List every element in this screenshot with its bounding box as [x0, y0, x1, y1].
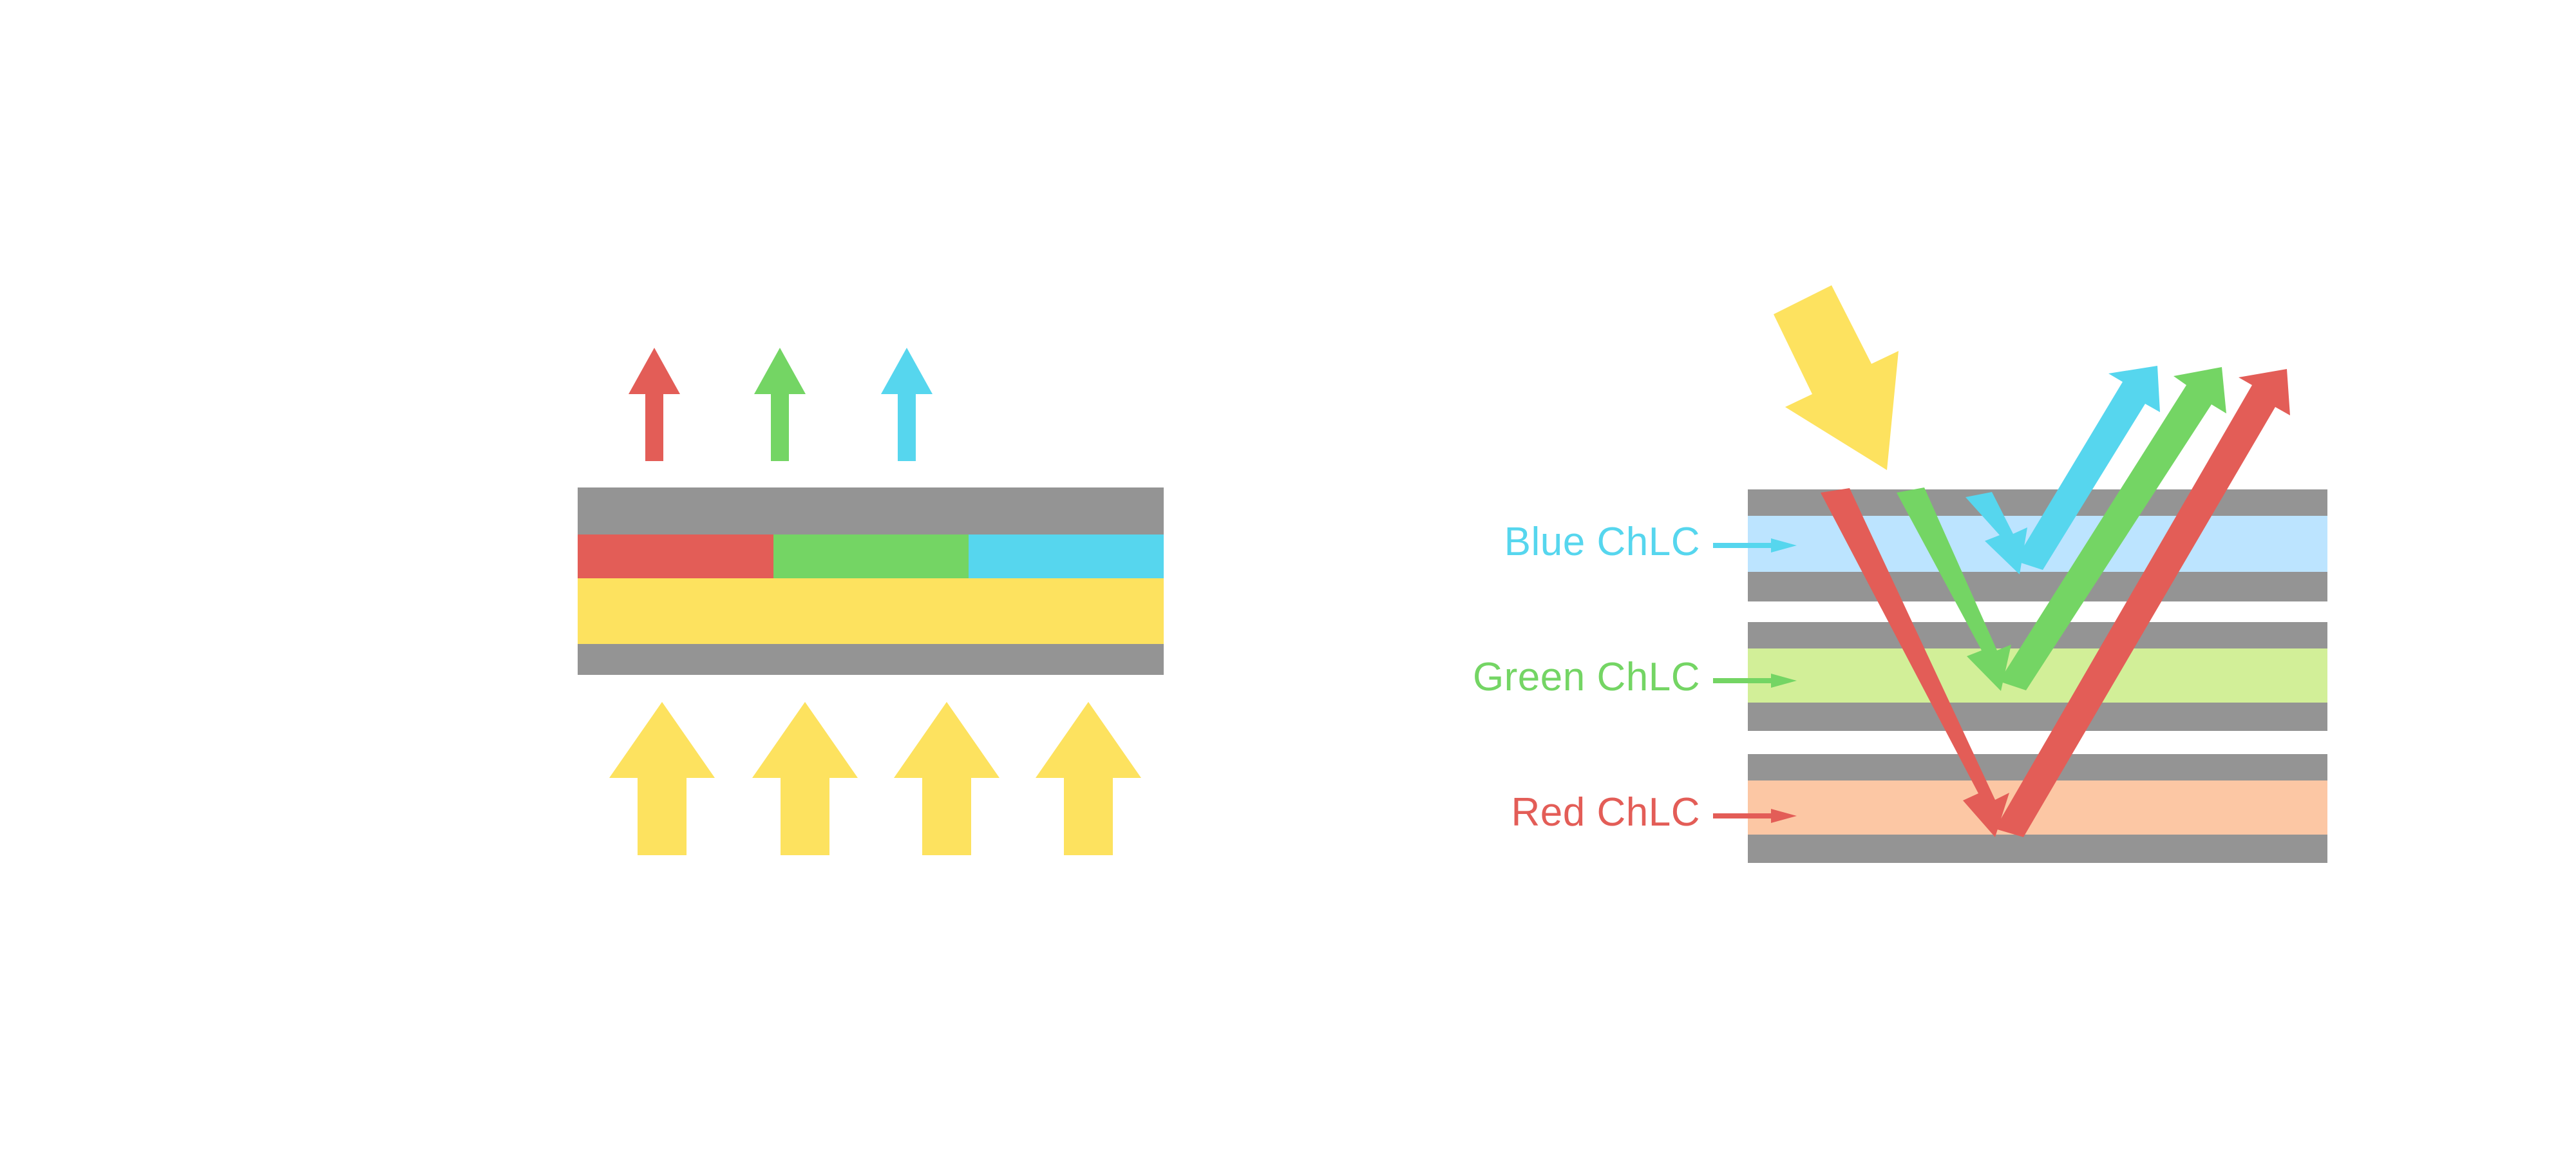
top-electrode-layer	[578, 487, 1164, 534]
diagram-canvas: Blue ChLC Green ChLC Red ChLC	[0, 0, 2576, 1154]
red-filter-segment	[578, 534, 773, 578]
bottom-electrode-layer	[578, 644, 1164, 675]
red-chlc-label-text: Red ChLC	[1511, 790, 1700, 835]
green-chlc-label: Green ChLC	[1473, 655, 1700, 699]
diagram-svg: Blue ChLC Green ChLC Red ChLC	[0, 0, 2576, 1154]
yellow-backlight-layer	[578, 578, 1164, 644]
blue-cell-bottom-substrate	[1748, 572, 2327, 601]
left-stack	[578, 487, 1164, 675]
cyan-filter-segment	[969, 534, 1164, 578]
red-chlc-label: Red ChLC	[1511, 790, 1700, 835]
blue-chlc-label-text: Blue ChLC	[1504, 520, 1700, 564]
green-filter-segment	[773, 534, 969, 578]
green-cell-bottom-substrate	[1748, 703, 2327, 731]
green-chlc-label-text: Green ChLC	[1473, 655, 1700, 699]
red-cell-bottom-substrate	[1748, 835, 2327, 863]
blue-chlc-label: Blue ChLC	[1504, 520, 1700, 564]
